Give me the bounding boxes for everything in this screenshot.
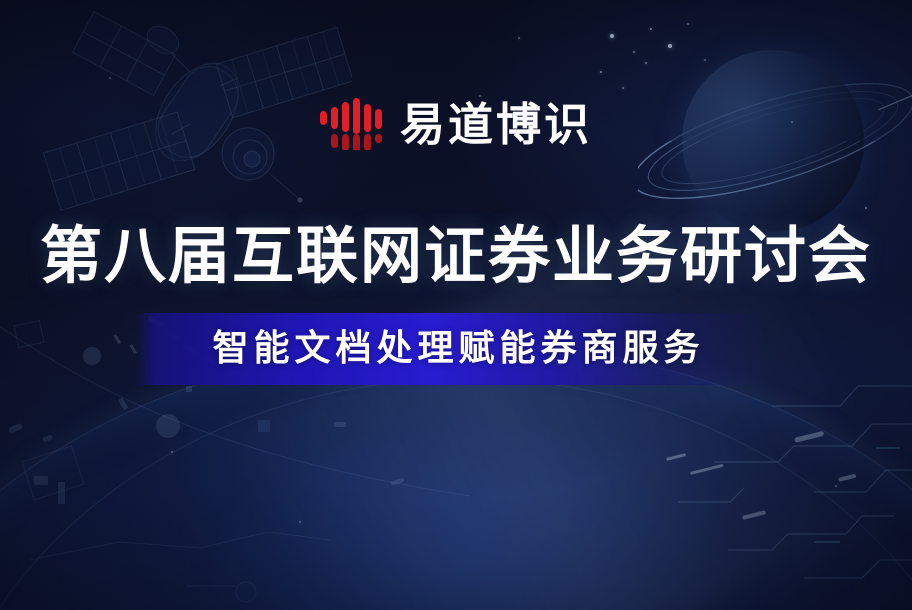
subtitle-text: 智能文档处理赋能券商服务 [0,326,912,372]
poster-content: 易道博识 第八届互联网证券业务研讨会 智能文档处理赋能券商服务 [0,0,912,610]
sound-wave-bars-logo-icon [320,98,382,150]
page-title: 第八届互联网证券业务研讨会 [0,222,912,290]
conference-poster: 易道博识 第八届互联网证券业务研讨会 智能文档处理赋能券商服务 [0,0,912,610]
brand-logo-lockup: 易道博识 [0,98,912,150]
brand-wordmark: 易道博识 [400,102,592,147]
